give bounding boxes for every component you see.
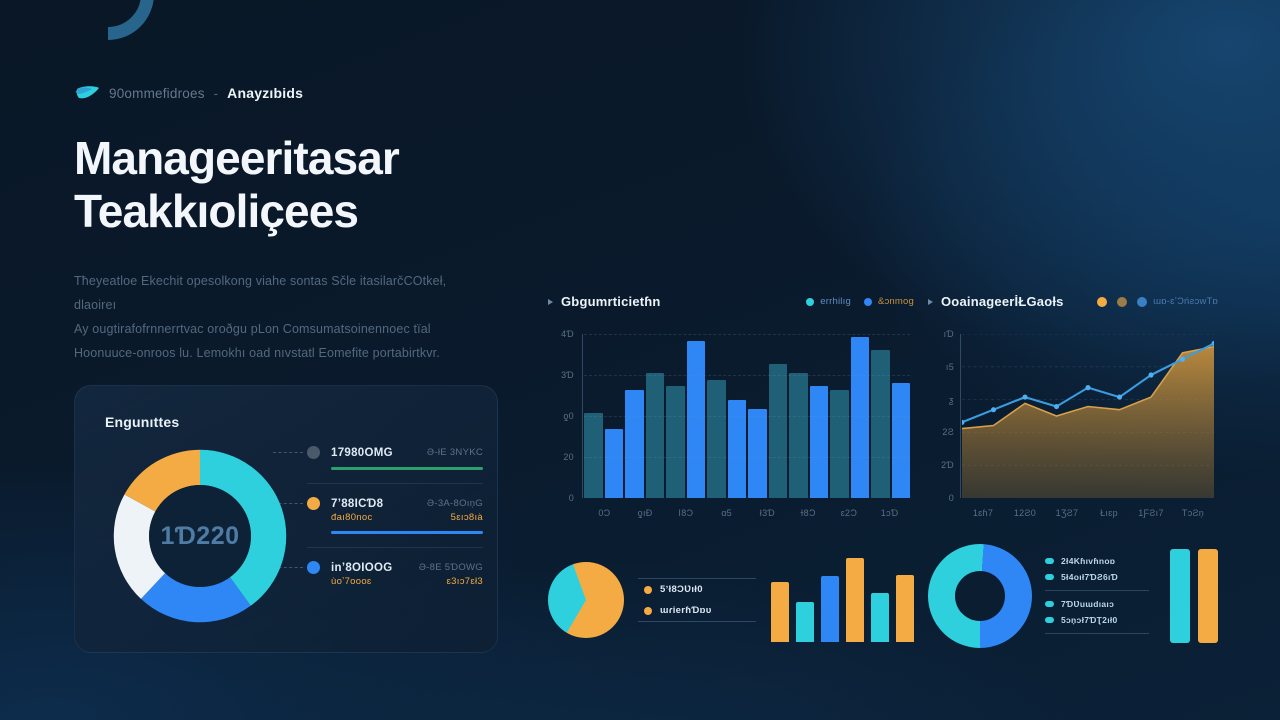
bar-panel-title: Gbgumrticietɦn [561, 294, 661, 309]
hero-section: 90ommefidroes - Anayzıbids Manageeritasa… [74, 82, 504, 365]
legend-item[interactable]: 5ł4oıł7ƊƧ6ıƊ [1045, 569, 1149, 585]
legend-dot-icon [1045, 574, 1054, 580]
legend-sublabel: đaı80noc [331, 512, 373, 523]
gridline [584, 334, 910, 335]
legend-dot-icon [1045, 617, 1054, 623]
bar[interactable] [605, 429, 624, 498]
breadcrumb: 90ommefidroes - Anayzıbids [74, 82, 504, 104]
legend-value: Ə-8E 5ƊOWG [419, 562, 483, 573]
bar[interactable] [796, 602, 814, 642]
x-tick-label: 1ƷƧ7 [1046, 508, 1088, 518]
bar[interactable] [707, 380, 726, 498]
legend-dot-icon [864, 298, 872, 306]
data-point[interactable] [1022, 394, 1027, 399]
y-tick-label: 3Ɗ [561, 370, 574, 380]
area-axis-line [960, 334, 961, 498]
bar-panel-header: Gbgumrticietɦn errhilıg &ɔnmoɡ [548, 294, 914, 309]
bar[interactable] [1198, 549, 1218, 643]
bar[interactable] [892, 383, 911, 498]
x-tick-label: TɔƧņ [1172, 508, 1214, 518]
breadcrumb-parent[interactable]: 90ommefidroes [109, 86, 205, 101]
legend-label: 5ʼł8ƆƲıł0 [660, 584, 703, 595]
hero-description-line: Tħeyeatloe Ekechit opesolkong viahe sont… [74, 269, 492, 317]
data-point[interactable] [1085, 385, 1090, 390]
bar[interactable] [871, 350, 890, 498]
legend-value: Ə-3A-8OıņG [427, 498, 483, 509]
data-point[interactable] [1054, 404, 1059, 409]
legend-divider-bottom [638, 621, 756, 622]
legend-label: &ɔnmoɡ [878, 296, 914, 307]
bar[interactable] [625, 390, 644, 498]
expand-triangle-icon[interactable] [548, 299, 553, 305]
area-y-axis: 02Ɗ2Ƨƺı5ıƊ [928, 334, 960, 498]
x-tick-label: Łıɛp [1088, 508, 1130, 518]
hero-description-line: Ay ougtirafofrnnerrtvac oroðgu pLon Coms… [74, 317, 492, 341]
legend-label: ɯɾierɦƊɒυ [660, 605, 712, 616]
leaf-logo-icon [74, 85, 100, 101]
split-donut-chart[interactable] [928, 544, 1032, 648]
area-svg [962, 334, 1214, 498]
legend-dot-icon [644, 586, 652, 594]
legend-label: 5ɔņɔł7ƊƮ2ıł0 [1061, 615, 1118, 625]
data-point[interactable] [1180, 357, 1185, 362]
leader-line [273, 567, 303, 568]
legend-divider [1045, 590, 1149, 591]
legend-dot-icon [307, 497, 320, 510]
legend-item[interactable]: errhilıg [806, 296, 851, 307]
y-tick-label: ƺ [949, 395, 954, 405]
area-panel-title: OoainageerİŁGaoƚs [941, 294, 1064, 309]
legend-item[interactable]: &ɔnmoɡ [864, 296, 914, 307]
legend-item[interactable]: 7ƊƲuɯdıaıɔ [1045, 596, 1149, 612]
bar-axis-line [582, 334, 583, 498]
legend-divider [307, 483, 483, 484]
donut-center-value: 1Ɗ220 [102, 438, 298, 634]
y-tick-label: 2Ɗ [941, 460, 954, 470]
y-tick-label: 4Ɗ [561, 329, 574, 339]
y-tick-label: 0 [569, 493, 574, 503]
split-donut-panel: 2ł4Kɦıvɦnoɒ 5ł4oıł7ƊƧ6ıƊ 7ƊƲuɯdıaıɔ 5ɔņɔ… [928, 540, 1218, 652]
legend-dot-icon [1045, 601, 1054, 607]
expand-triangle-icon[interactable] [928, 299, 933, 305]
legend-subvalue: 5ɛıɔ8ıà [451, 512, 483, 523]
bar-x-axis: 0ƆƍıÐI8Ɔɑ5ł3Ɗɫ8Ɔɛ2Ɔ1ɔƊ [584, 508, 910, 518]
legend-progress-bar [331, 467, 483, 470]
mini-pie-bar-panel: 5ʼł8ƆƲıł0 ɯɾierɦƊɒυ [548, 548, 914, 652]
legend-divider [307, 547, 483, 548]
area-panel-header: OoainageerİŁGaoƚs ɯɒ-ɛʼƆńƨɔwTɒ [928, 294, 1218, 309]
donut-legend-row[interactable]: inʼ8OIOOG Ə-8E 5ƊOWG ùoʼ7oooɛ ɛ3ıɔ7ɛł3 [307, 561, 483, 587]
bar[interactable] [851, 337, 870, 498]
x-tick-label: 1ƑƧı7 [1130, 508, 1172, 518]
bar[interactable] [728, 400, 747, 498]
mini-pie-chart[interactable] [548, 562, 624, 638]
bar-chart-legend: errhilıg &ɔnmoɡ [806, 296, 914, 307]
legend-item[interactable] [1117, 297, 1127, 307]
breadcrumb-separator: - [214, 86, 219, 101]
gridline [584, 416, 910, 417]
bar[interactable] [769, 364, 788, 498]
area-plot-area[interactable] [962, 334, 1214, 498]
data-point[interactable] [1148, 372, 1153, 377]
legend-label: inʼ8OIOOG [331, 562, 408, 574]
legend-dot-icon [307, 446, 320, 459]
legend-label: 7ƊƲuɯdıaıɔ [1061, 599, 1114, 609]
bar[interactable] [871, 593, 889, 642]
split-donut-legend: 2ł4Kɦıvɦnoɒ 5ł4oıł7ƊƧ6ıƊ 7ƊƲuɯdıaıɔ 5ɔņɔ… [1045, 553, 1149, 639]
bar[interactable] [666, 386, 685, 498]
leader-line [273, 452, 303, 453]
legend-item[interactable]: ɯɾierɦƊɒυ [638, 600, 756, 621]
hero-description-line: Hoonuuce-onroos lu. Lemokhı oad nıvstatl… [74, 341, 492, 365]
bar[interactable] [896, 575, 914, 642]
y-tick-label: 0 [949, 493, 954, 503]
x-tick-label: 12Ƨ0 [1004, 508, 1046, 518]
pair-bar-chart[interactable] [1162, 547, 1218, 645]
legend-dot-icon [1045, 558, 1054, 564]
x-tick-label: ɑ5 [706, 508, 747, 518]
bar[interactable] [1170, 549, 1190, 643]
x-tick-label: 0Ɔ [584, 508, 625, 518]
breadcrumb-current[interactable]: Anayzıbids [227, 85, 303, 101]
legend-dot-icon [806, 298, 814, 306]
legend-dot-icon [644, 607, 652, 615]
donut-legend: 17980OMG Ə-łE 3NYKC 7ʼ88ICƊ8 Ə-3A-8OıņG … [307, 446, 483, 587]
leader-line [273, 503, 303, 504]
legend-item[interactable]: 5ʼł8ƆƲıł0 [638, 579, 756, 600]
legend-label: 7ʼ88ICƊ8 [331, 498, 416, 510]
legend-value: Ə-łE 3NYKC [427, 447, 483, 458]
legend-item[interactable]: 5ɔņɔł7ƊƮ2ıł0 [1045, 612, 1149, 628]
donut-legend-row[interactable]: 7ʼ88ICƊ8 Ə-3A-8OıņG đaı80noc 5ɛıɔ8ıà [307, 497, 483, 534]
y-tick-label: ıƊ [944, 329, 954, 339]
bar[interactable] [748, 409, 767, 498]
mini-bar-chart[interactable] [770, 558, 914, 642]
legend-dot-icon [1097, 297, 1107, 307]
legend-divider [1045, 633, 1149, 634]
x-tick-label: ɛ2Ɔ [829, 508, 870, 518]
area-x-axis: 1ɛɦ712Ƨ01ƷƧ7Łıɛp1ƑƧı7TɔƧņ [962, 508, 1214, 518]
legend-subvalue: ɛ3ıɔ7ɛł3 [447, 576, 483, 587]
bar[interactable] [646, 373, 665, 498]
x-tick-label: I8Ɔ [666, 508, 707, 518]
legend-sublabel: ùoʼ7oooɛ [331, 576, 372, 587]
engagement-donut-card: Engunıttes 1Ɗ220 17980OMG Ə-łE 3NYKC 7ʼ8… [74, 385, 498, 653]
x-tick-label: ł3Ɗ [747, 508, 788, 518]
area-chart-legend: ɯɒ-ɛʼƆńƨɔwTɒ [1097, 296, 1218, 307]
legend-label: 5ł4oıł7ƊƧ6ıƊ [1061, 572, 1118, 582]
bar[interactable] [821, 576, 839, 642]
page-title-line2: Teakkıoliçees [74, 185, 504, 238]
y-tick-label: ı5 [946, 362, 954, 372]
legend-label: 2ł4Kɦıvɦnoɒ [1061, 556, 1115, 566]
bar[interactable] [789, 373, 808, 498]
bar-y-axis: 020ƍ03Ɗ4Ɗ [548, 334, 580, 498]
legend-dot-icon [1117, 297, 1127, 307]
bar[interactable] [810, 386, 829, 498]
legend-label: ɯɒ-ɛʼƆńƨɔwTɒ [1153, 296, 1218, 307]
engagement-donut-chart[interactable]: 1Ɗ220 [102, 438, 298, 634]
page-title: Manageeritasar Teakkıoliçees [74, 132, 504, 239]
legend-dot-icon [307, 561, 320, 574]
legend-dot-icon [1137, 297, 1147, 307]
legend-item[interactable]: ɯɒ-ɛʼƆńƨɔwTɒ [1137, 296, 1218, 307]
bar-chart-panel: Gbgumrticietɦn errhilıg &ɔnmoɡ 020ƍ03Ɗ4Ɗ… [548, 294, 914, 526]
legend-item[interactable] [1097, 297, 1107, 307]
y-tick-label: 2Ƨ [942, 427, 954, 437]
y-tick-label: ƍ0 [563, 411, 574, 421]
area-chart-panel: OoainageerİŁGaoƚs ɯɒ-ɛʼƆńƨɔwTɒ 02Ɗ2Ƨƺı5ı… [928, 294, 1218, 526]
mini-pie-legend: 5ʼł8ƆƲıł0 ɯɾierɦƊɒυ [638, 578, 756, 622]
legend-progress-bar [331, 531, 483, 534]
donut-legend-row[interactable]: 17980OMG Ə-łE 3NYKC [307, 446, 483, 470]
hero-description: Tħeyeatloe Ekechit opesolkong viahe sont… [74, 269, 492, 365]
y-tick-label: 20 [563, 452, 574, 462]
data-point[interactable] [991, 407, 996, 412]
legend-label: 17980OMG [331, 447, 416, 459]
x-tick-label: ƍıÐ [625, 508, 666, 518]
x-tick-label: ɫ8Ɔ [788, 508, 829, 518]
bar[interactable] [687, 341, 706, 498]
x-tick-label: 1ɔƊ [869, 508, 910, 518]
bar[interactable] [846, 558, 864, 642]
bar[interactable] [830, 390, 849, 498]
bar-plot-area [584, 334, 910, 498]
donut-card-title: Engunıttes [105, 414, 179, 430]
bar[interactable] [584, 413, 603, 498]
data-point[interactable] [1117, 394, 1122, 399]
gridline [584, 375, 910, 376]
legend-label: errhilıg [820, 296, 851, 307]
legend-item[interactable]: 2ł4Kɦıvɦnoɒ [1045, 553, 1149, 569]
x-tick-label: 1ɛɦ7 [962, 508, 1004, 518]
gridline [584, 457, 910, 458]
bar[interactable] [771, 582, 789, 642]
page-title-line1: Manageeritasar [74, 132, 504, 185]
